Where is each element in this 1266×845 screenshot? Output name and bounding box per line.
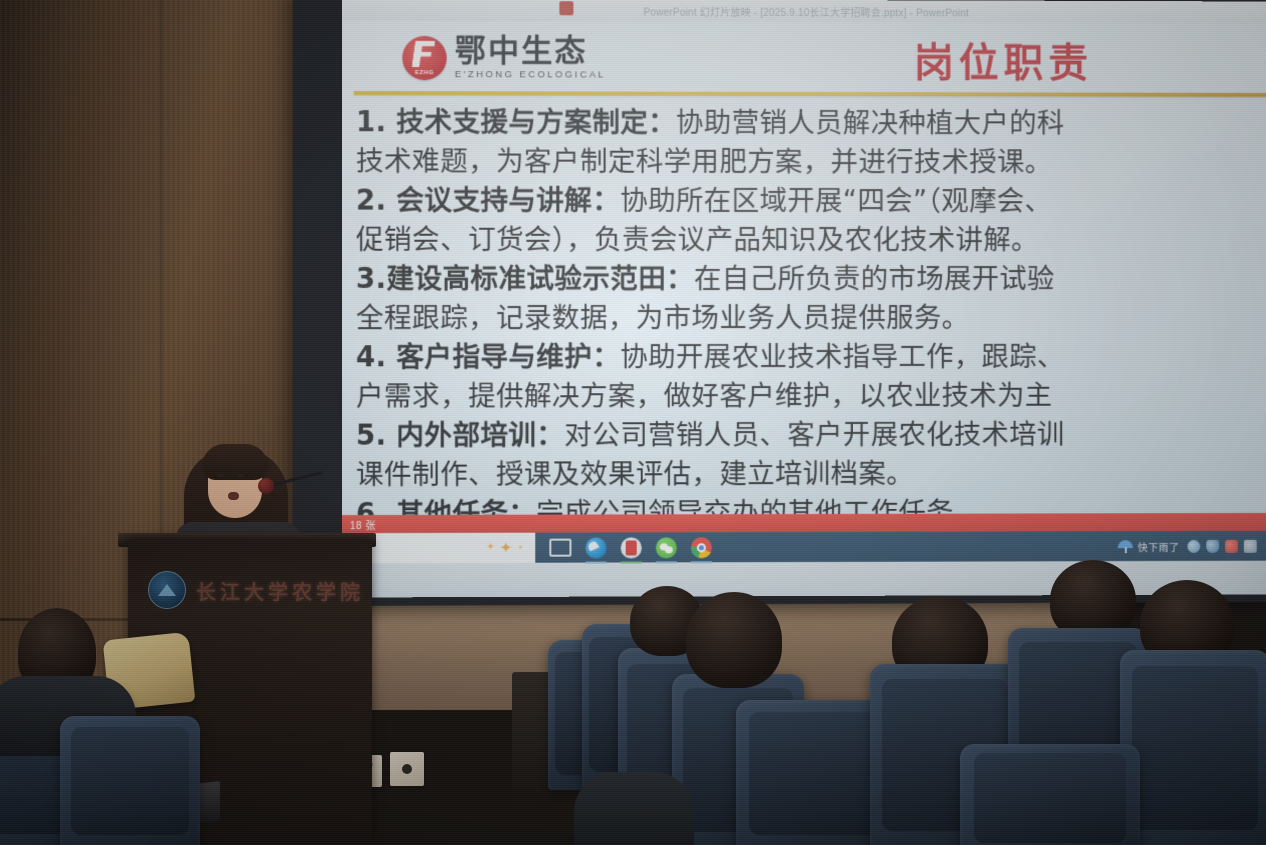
notification-icon[interactable]: [1225, 539, 1238, 552]
slide-line: 技术难题，为客户制定科学用肥方案，并进行技术授课。: [356, 142, 1266, 182]
slide-line-body: 协助所在区域开展“四会”（观摩会、: [620, 185, 1052, 217]
slide-line-body: 课件制作、授课及效果评估，建立培训档案。: [356, 458, 914, 491]
slideshow-progress-bar: 18 张: [342, 513, 1266, 533]
audience-shoulders: [574, 772, 694, 845]
podium-sign: 长江大学农学院: [140, 566, 368, 614]
slide-title: 岗位职责: [914, 30, 1093, 88]
slide-line: 5. 内外部培训：对公司营销人员、客户开展农化技术培训: [356, 416, 1266, 456]
university-emblem-icon: [148, 571, 186, 609]
slide-line-heading: 3.建设高标准试验示范田：: [356, 263, 694, 295]
slide-line: 3.建设高标准试验示范田：在自己所负责的市场展开试验: [356, 260, 1266, 299]
seat: [960, 744, 1140, 845]
sparkle-icon: ✦: [500, 540, 513, 555]
slide-line: 课件制作、授课及效果评估，建立培训档案。: [356, 455, 1266, 496]
slide-line-body: 协助营销人员解决种植大户的科: [676, 107, 1065, 140]
slide-line: 促销会、订货会），负责会议产品知识及农化技术讲解。: [356, 221, 1266, 261]
slide-line: 1. 技术支援与方案制定：协助营销人员解决种植大户的科: [356, 103, 1266, 144]
cable-port-icon: [390, 752, 424, 786]
shield-icon[interactable]: [1206, 539, 1219, 552]
seat: [60, 716, 200, 845]
company-name-cn: 鄂中生态: [455, 35, 606, 66]
podium-sign-text: 长江大学农学院: [196, 576, 364, 605]
media-app-icon[interactable]: [621, 537, 642, 558]
slide-line-body: 户需求，提供解决方案，做好客户维护，以农业技术为主: [356, 380, 1052, 413]
weather-label: 快下雨了: [1138, 539, 1180, 554]
slide-line: 2. 会议支持与讲解：协助所在区域开展“四会”（观摩会、: [356, 182, 1266, 222]
projector-screen: PowerPoint 幻灯片放映 - [2025.9.10长江大学招聘会.ppt…: [342, 0, 1266, 597]
slide-line-heading: 4. 客户指导与维护：: [356, 341, 620, 373]
powerpoint-app-icon: [559, 1, 573, 15]
windows-taskbar[interactable]: ✦ ✦ ✦ 快下雨了: [342, 531, 1266, 563]
slide-line-body: 在自己所负责的市场展开试验: [694, 263, 1055, 295]
wechat-icon[interactable]: [656, 537, 677, 558]
ezhg-badge-icon: EZHG: [402, 35, 446, 79]
slide-line: 全程跟踪，记录数据，为市场业务人员提供服务。: [356, 299, 1266, 338]
company-logo: EZHG 鄂中生态 E'ZHONG ECOLOGICAL: [402, 35, 605, 81]
edge-icon[interactable]: [586, 537, 607, 558]
slide-counter: 18 张: [350, 517, 376, 532]
slide-line: 4. 客户指导与维护：协助开展农业技术指导工作，跟踪、: [356, 338, 1266, 378]
task-view-icon[interactable]: [549, 539, 571, 557]
slide-line-heading: 2. 会议支持与讲解：: [356, 185, 620, 217]
badge-text: EZHG: [402, 70, 446, 76]
slide-line-body: 技术难题，为客户制定科学用肥方案，并进行技术授课。: [356, 145, 1052, 178]
slide-line: 户需求，提供解决方案，做好客户维护，以农业技术为主: [356, 377, 1266, 417]
sparkle-icon: ✦: [486, 543, 494, 553]
slide-line-body: 促销会、订货会），负责会议产品知识及农化技术讲解。: [356, 224, 1039, 256]
lecture-hall-photo: PowerPoint 幻灯片放映 - [2025.9.10长江大学招聘会.ppt…: [0, 0, 1266, 845]
sparkle-icon: ✦: [517, 544, 523, 551]
slide-header: EZHG 鄂中生态 E'ZHONG ECOLOGICAL 岗位职责: [342, 21, 1266, 91]
slide-line-body: 对公司营销人员、客户开展农化技术培训: [564, 419, 1064, 452]
weather-widget[interactable]: 快下雨了: [1118, 539, 1180, 554]
window-title: PowerPoint 幻灯片放映 - [2025.9.10长江大学招聘会.ppt…: [643, 3, 969, 19]
header-divider: [354, 91, 1266, 97]
volume-icon[interactable]: [1244, 539, 1257, 552]
taskbar-pinned-apps[interactable]: [535, 537, 712, 559]
taskbar-system-tray[interactable]: 快下雨了: [1118, 538, 1266, 553]
slide-line-body: 协助开展农业技术指导工作，跟踪、: [620, 341, 1064, 373]
slide-line-body: 全程跟踪，记录数据，为市场业务人员提供服务。: [356, 302, 969, 334]
umbrella-icon: [1118, 540, 1133, 553]
microphone-icon: [258, 478, 274, 494]
slide-line-heading: 1. 技术支援与方案制定：: [356, 106, 676, 139]
seat: [1120, 650, 1266, 845]
slide-canvas: EZHG 鄂中生态 E'ZHONG ECOLOGICAL 岗位职责 1. 技术支…: [342, 21, 1266, 564]
audience-head: [686, 592, 782, 688]
company-name-en: E'ZHONG ECOLOGICAL: [455, 69, 606, 80]
slide-body: 1. 技术支援与方案制定：协助营销人员解决种植大户的科技术难题，为客户制定科学用…: [356, 103, 1266, 535]
network-icon[interactable]: [1187, 539, 1200, 552]
slide-line-heading: 5. 内外部培训：: [356, 420, 564, 452]
chrome-icon[interactable]: [691, 537, 712, 558]
tray-icons[interactable]: [1187, 539, 1256, 552]
